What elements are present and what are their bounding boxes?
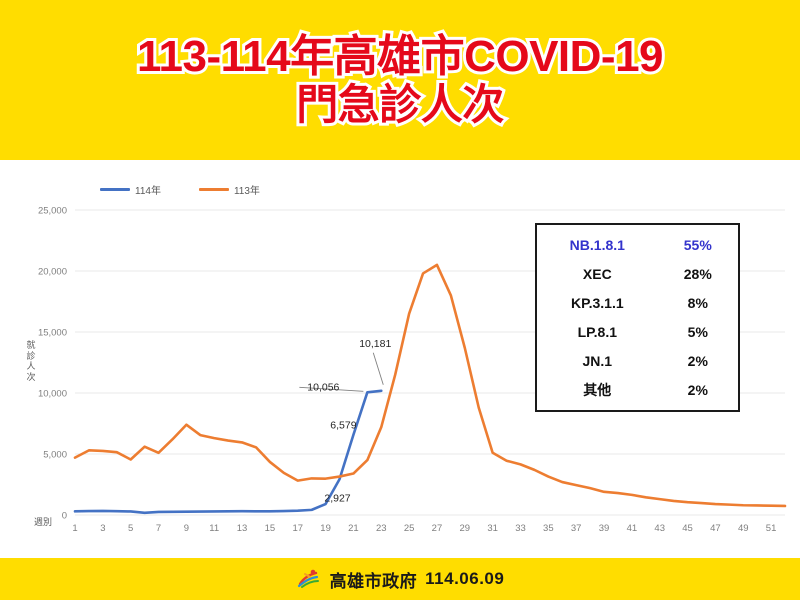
x-tick-label-23: 23 xyxy=(376,523,387,534)
y-axis-title-char-1: 診 xyxy=(24,351,38,362)
x-tick-label-33: 33 xyxy=(515,523,526,534)
x-tick-label-45: 45 xyxy=(682,523,693,534)
title-banner: 113-114年高雄市COVID-19 門急診人次 xyxy=(0,0,800,160)
y-axis-ticks: 05,00010,00015,00020,00025,000 xyxy=(38,206,67,522)
variant-row-4: JN.12% xyxy=(537,347,738,376)
variant-row-1: XEC28% xyxy=(537,260,738,289)
y-tick-label-0: 0 xyxy=(62,511,67,522)
x-tick-label-29: 29 xyxy=(460,523,471,534)
x-tick-label-49: 49 xyxy=(738,523,749,534)
variant-percent: 2% xyxy=(658,353,738,369)
variant-name: 其他 xyxy=(537,380,658,400)
x-tick-label-25: 25 xyxy=(404,523,415,534)
x-tick-label-27: 27 xyxy=(432,523,443,534)
kaohsiung-city-logo-icon xyxy=(296,568,322,590)
x-tick-label-37: 37 xyxy=(571,523,582,534)
variant-name: JN.1 xyxy=(537,353,658,369)
variant-row-2: KP.3.1.18% xyxy=(537,289,738,318)
footer-bar: 高雄市政府 114.06.09 xyxy=(0,558,800,600)
y-tick-label-25000: 25,000 xyxy=(38,206,67,217)
x-tick-label-39: 39 xyxy=(599,523,610,534)
variant-row-5: 其他2% xyxy=(537,376,738,405)
y-tick-label-15000: 15,000 xyxy=(38,328,67,339)
x-tick-label-51: 51 xyxy=(766,523,777,534)
y-axis-title: 就 診 人 次 xyxy=(24,340,38,382)
slide-root: 113-114年高雄市COVID-19 門急診人次 114年 113年 05,0… xyxy=(0,0,800,600)
variant-row-0: NB.1.8.155% xyxy=(537,231,738,260)
data-label-6,579: 6,579 xyxy=(330,420,356,432)
x-tick-label-47: 47 xyxy=(710,523,721,534)
data-label-10,181: 10,181 xyxy=(359,338,391,350)
x-tick-label-11: 11 xyxy=(209,523,219,534)
x-axis-ticks: 1357911131517192123252729313335373941434… xyxy=(72,523,776,534)
variant-row-3: LP.8.15% xyxy=(537,318,738,347)
y-tick-label-5000: 5,000 xyxy=(43,450,67,461)
y-tick-label-10000: 10,000 xyxy=(38,389,67,400)
data-label-10,056: 10,056 xyxy=(307,381,339,393)
leader-line-10,181 xyxy=(373,353,383,385)
footer-org: 高雄市政府 xyxy=(330,567,418,592)
y-axis-title-char-3: 次 xyxy=(24,372,38,383)
variant-percent: 5% xyxy=(658,324,738,340)
page-title-line1: 113-114年高雄市COVID-19 xyxy=(137,32,663,81)
footer-date: 114.06.09 xyxy=(425,569,504,589)
x-tick-label-15: 15 xyxy=(265,523,276,534)
variant-name: NB.1.8.1 xyxy=(537,237,658,253)
data-label-2,927: 2,927 xyxy=(324,492,350,504)
x-tick-label-9: 9 xyxy=(184,523,189,534)
x-tick-label-7: 7 xyxy=(156,523,161,534)
variant-percent: 8% xyxy=(658,295,738,311)
x-tick-label-5: 5 xyxy=(128,523,133,534)
variant-name: KP.3.1.1 xyxy=(537,295,658,311)
x-tick-label-1: 1 xyxy=(72,523,77,534)
x-tick-label-35: 35 xyxy=(543,523,554,534)
variant-name: XEC xyxy=(537,266,658,282)
variant-name: LP.8.1 xyxy=(537,324,658,340)
x-axis-title: 週別 xyxy=(34,517,52,527)
x-tick-label-31: 31 xyxy=(487,523,498,534)
variant-share-table: NB.1.8.155%XEC28%KP.3.1.18%LP.8.15%JN.12… xyxy=(535,223,740,412)
variant-percent: 2% xyxy=(658,382,738,398)
variant-percent: 55% xyxy=(658,237,738,253)
x-tick-label-13: 13 xyxy=(237,523,248,534)
y-tick-label-20000: 20,000 xyxy=(38,267,67,278)
x-tick-label-41: 41 xyxy=(627,523,638,534)
x-tick-label-17: 17 xyxy=(292,523,303,534)
x-tick-label-21: 21 xyxy=(348,523,359,534)
page-title-line2: 門急診人次 xyxy=(296,81,504,128)
x-tick-label-19: 19 xyxy=(320,523,331,534)
y-axis-title-char-0: 就 xyxy=(24,340,38,351)
variant-percent: 28% xyxy=(658,266,738,282)
x-tick-label-43: 43 xyxy=(654,523,665,534)
x-tick-label-3: 3 xyxy=(100,523,105,534)
y-axis-title-char-2: 人 xyxy=(24,361,38,372)
